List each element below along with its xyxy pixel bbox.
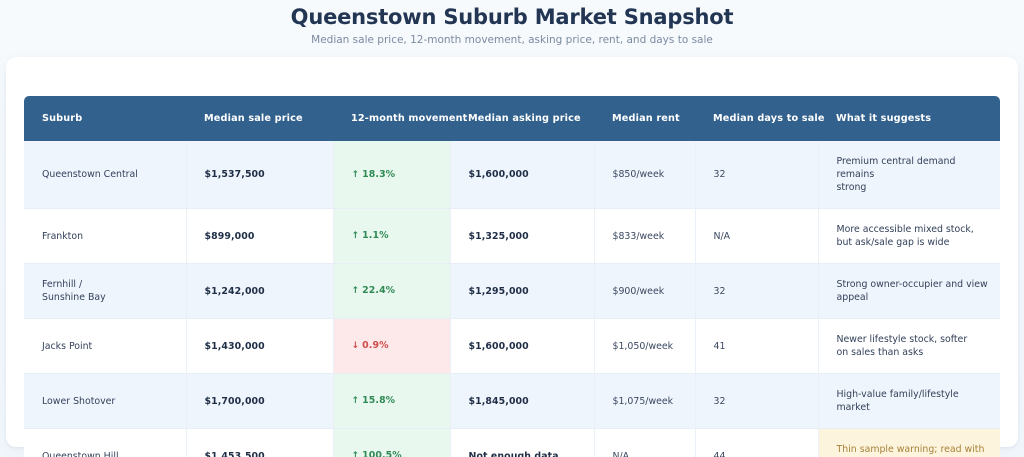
column-header-median-sale-price[interactable]: Median sale price	[186, 96, 333, 141]
table-row: Lower Shotover$1,700,000↑15.8%$1,845,000…	[24, 374, 1000, 429]
arrow-up-icon: ↑	[352, 286, 360, 296]
movement-value: 0.9%	[362, 340, 388, 351]
cell-median-rent: N/A	[594, 429, 695, 457]
table-container: Suburb Median sale price 12-month moveme…	[24, 96, 1000, 457]
suggests-line-2: strong	[837, 181, 991, 194]
table-row: Queenstown Hill$1,453,500↑100.5%Not enou…	[24, 429, 1000, 457]
cell-what-it-suggests: Premium central demand remainsstrong	[818, 141, 1000, 209]
cell-12-month-movement: ↑18.3%	[333, 141, 450, 209]
cell-what-it-suggests: Strong owner-occupier and viewappeal	[818, 264, 1000, 319]
movement-value: 100.5%	[362, 450, 402, 457]
cell-suburb: Frankton	[24, 209, 186, 264]
arrow-down-icon: ↓	[352, 341, 360, 351]
arrow-up-icon: ↑	[352, 396, 360, 406]
table-header: Suburb Median sale price 12-month moveme…	[24, 96, 1000, 141]
suggests-line-2: on sales than asks	[837, 346, 991, 359]
cell-median-days-to-sale: 32	[695, 264, 818, 319]
suburb-line-1: Lower Shotover	[42, 395, 176, 408]
cell-suburb: Queenstown Hill	[24, 429, 186, 457]
cell-median-sale-price: $1,242,000	[186, 264, 333, 319]
column-header-suburb[interactable]: Suburb	[24, 96, 186, 141]
page-root: Queenstown Suburb Market Snapshot Median…	[0, 0, 1024, 457]
cell-median-rent: $900/week	[594, 264, 695, 319]
cell-12-month-movement: ↑100.5%	[333, 429, 450, 457]
table-row: Jacks Point$1,430,000↓0.9%$1,600,000$1,0…	[24, 319, 1000, 374]
table-card: Suburb Median sale price 12-month moveme…	[6, 57, 1018, 447]
suburb-line-1: Fernhill /	[42, 278, 176, 291]
cell-median-asking-price: Not enough data	[450, 429, 594, 457]
cell-what-it-suggests: High-value family/lifestylemarket	[818, 374, 1000, 429]
cell-median-sale-price: $899,000	[186, 209, 333, 264]
suggests-line-1: Premium central demand remains	[837, 155, 991, 181]
movement-value: 15.8%	[362, 395, 395, 406]
column-header-median-days-to-sale[interactable]: Median days to sale	[695, 96, 818, 141]
suburb-market-table: Suburb Median sale price 12-month moveme…	[24, 96, 1000, 457]
arrow-up-icon: ↑	[352, 231, 360, 241]
cell-median-asking-price: $1,325,000	[450, 209, 594, 264]
suggests-line-2: market	[837, 401, 991, 414]
cell-12-month-movement: ↓0.9%	[333, 319, 450, 374]
cell-suburb: Fernhill /Sunshine Bay	[24, 264, 186, 319]
page-title: Queenstown Suburb Market Snapshot	[0, 3, 1024, 31]
cell-median-asking-price: $1,295,000	[450, 264, 594, 319]
cell-median-sale-price: $1,453,500	[186, 429, 333, 457]
column-header-12-month-movement[interactable]: 12-month movement	[333, 96, 450, 141]
cell-median-asking-price: $1,845,000	[450, 374, 594, 429]
table-row: Queenstown Central$1,537,500↑18.3%$1,600…	[24, 141, 1000, 209]
cell-median-rent: $1,050/week	[594, 319, 695, 374]
suggests-line-2: appeal	[837, 291, 991, 304]
page-subtitle: Median sale price, 12-month movement, as…	[0, 32, 1024, 48]
cell-what-it-suggests-warning: Thin sample warning; read withcare	[818, 429, 1000, 457]
cell-median-sale-price: $1,700,000	[186, 374, 333, 429]
cell-median-rent: $850/week	[594, 141, 695, 209]
cell-median-rent: $1,075/week	[594, 374, 695, 429]
table-body: Queenstown Central$1,537,500↑18.3%$1,600…	[24, 141, 1000, 457]
column-header-what-it-suggests[interactable]: What it suggests	[818, 96, 1000, 141]
suburb-line-1: Jacks Point	[42, 340, 176, 353]
movement-value: 1.1%	[362, 230, 388, 241]
cell-what-it-suggests: Newer lifestyle stock, softeron sales th…	[818, 319, 1000, 374]
movement-value: 18.3%	[362, 169, 395, 180]
suggests-line-1: Newer lifestyle stock, softer	[837, 333, 991, 346]
page-header: Queenstown Suburb Market Snapshot Median…	[0, 0, 1024, 48]
suburb-line-1: Queenstown Central	[42, 168, 176, 181]
cell-median-asking-price: $1,600,000	[450, 319, 594, 374]
cell-suburb: Jacks Point	[24, 319, 186, 374]
cell-12-month-movement: ↑1.1%	[333, 209, 450, 264]
cell-median-days-to-sale: 44	[695, 429, 818, 457]
cell-median-asking-price: $1,600,000	[450, 141, 594, 209]
suggests-line-2: but ask/sale gap is wide	[837, 236, 991, 249]
cell-median-days-to-sale: 32	[695, 374, 818, 429]
suggests-line-1: More accessible mixed stock,	[837, 223, 991, 236]
cell-suburb: Queenstown Central	[24, 141, 186, 209]
movement-value: 22.4%	[362, 285, 395, 296]
suggests-line-1: High-value family/lifestyle	[837, 388, 991, 401]
suggests-line-1: Thin sample warning; read with	[837, 443, 991, 456]
arrow-up-icon: ↑	[352, 170, 360, 180]
table-row: Frankton$899,000↑1.1%$1,325,000$833/week…	[24, 209, 1000, 264]
arrow-up-icon: ↑	[352, 451, 360, 457]
cell-what-it-suggests: More accessible mixed stock,but ask/sale…	[818, 209, 1000, 264]
cell-12-month-movement: ↑15.8%	[333, 374, 450, 429]
table-row: Fernhill /Sunshine Bay$1,242,000↑22.4%$1…	[24, 264, 1000, 319]
cell-median-sale-price: $1,430,000	[186, 319, 333, 374]
cell-12-month-movement: ↑22.4%	[333, 264, 450, 319]
suggests-line-1: Strong owner-occupier and view	[837, 278, 991, 291]
cell-median-days-to-sale: 41	[695, 319, 818, 374]
column-header-median-asking-price[interactable]: Median asking price	[450, 96, 594, 141]
cell-median-rent: $833/week	[594, 209, 695, 264]
cell-median-sale-price: $1,537,500	[186, 141, 333, 209]
cell-suburb: Lower Shotover	[24, 374, 186, 429]
cell-median-days-to-sale: 32	[695, 141, 818, 209]
table-header-row: Suburb Median sale price 12-month moveme…	[24, 96, 1000, 141]
suburb-line-2: Sunshine Bay	[42, 291, 176, 304]
cell-median-days-to-sale: N/A	[695, 209, 818, 264]
suburb-line-1: Frankton	[42, 230, 176, 243]
column-header-median-rent[interactable]: Median rent	[594, 96, 695, 141]
suburb-line-1: Queenstown Hill	[42, 450, 176, 457]
